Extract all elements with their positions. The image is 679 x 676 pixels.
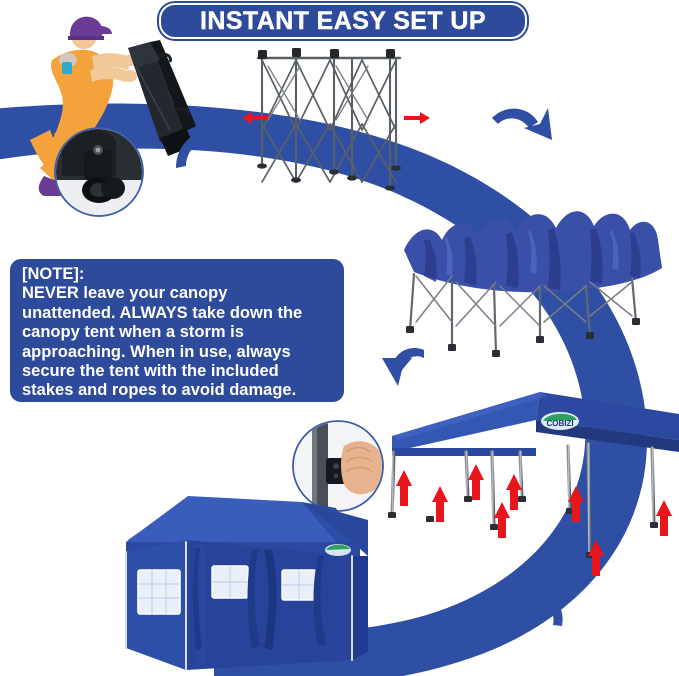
- page-title: INSTANT EASY SET UP: [200, 9, 486, 34]
- page-title-badge: INSTANT EASY SET UP: [159, 3, 527, 39]
- note-line-2: NEVER leave your canopy: [22, 284, 336, 303]
- flow-arrow-4: [516, 588, 563, 626]
- note-line-3: unattended. ALWAYS take down the: [22, 304, 336, 323]
- note-line-6: secure the tent with the included: [22, 362, 336, 381]
- infographic-canvas: COBIZI: [0, 0, 679, 676]
- note-line-5: approaching. When in use, always: [22, 343, 336, 362]
- note-callout: [NOTE]: NEVER leave your canopy unattend…: [8, 257, 346, 404]
- flow-arrow-2: [492, 108, 552, 140]
- flow-arrow-1: [176, 118, 240, 168]
- note-line-7: stakes and ropes to avoid damage.: [22, 381, 336, 400]
- note-line-1: [NOTE]:: [22, 265, 336, 284]
- note-line-4: canopy tent when a storm is: [22, 323, 336, 342]
- flow-arrow-3: [382, 348, 424, 386]
